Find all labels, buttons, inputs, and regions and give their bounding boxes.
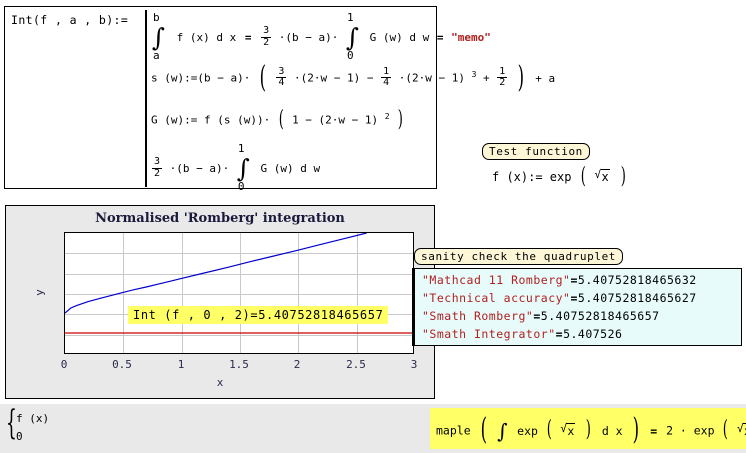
test-function-equation[interactable]: f (x):= exp ( x ) [492, 169, 628, 184]
maple-rhs-pre: 2 · exp [666, 424, 714, 438]
sanity-label: "Smath Romberg" [422, 309, 533, 323]
legend-entry-2: 0 [16, 430, 23, 443]
memo-string: "memo" [451, 31, 491, 44]
x-tick-label: 0.5 [102, 358, 142, 371]
x-axis-label: x [6, 376, 434, 389]
factor-b-minus-a-2: ·(b − a)· [170, 162, 230, 175]
definition-line-2[interactable]: s (w):=(b − a)· ( 3 4 ·(2·w − 1) − 1 4 ·… [151, 68, 555, 89]
integral2-lower-limit: 0 [347, 49, 354, 62]
integrand-3: G (w) d w [261, 162, 321, 175]
sqrt-icon: x [595, 169, 612, 184]
factor-b-minus-a-1: ·(b − a)· [279, 31, 339, 44]
plot-curves [65, 233, 413, 353]
maple-expression-panel[interactable]: maple ( ∫ exp ( x ) d x ) = 2 · exp ( x … [430, 408, 746, 449]
fraction-one-half: 1 2 [497, 67, 507, 88]
maple-function-name: maple [436, 424, 471, 438]
fraction-denominator: 4 [276, 77, 286, 88]
x-tick-label: 2 [277, 358, 317, 371]
equals-2: = [437, 31, 444, 44]
fraction-three-halves-2: 3 2 [152, 157, 162, 178]
definition-name-label: Int(f , a , b):= [11, 13, 128, 27]
sanity-equals: = [556, 327, 563, 341]
plot-area[interactable] [64, 232, 414, 354]
maple-integrand-pre: exp [517, 424, 538, 438]
sqrt-icon: x [737, 423, 746, 438]
integral-lower-limit: a [153, 49, 160, 62]
plus-sign: + [483, 72, 496, 85]
maple-expression: maple ( ∫ exp ( x ) d x ) = 2 · exp ( x … [436, 418, 746, 444]
sqrt-radicand: x [566, 423, 575, 438]
x-tick-label: 1 [161, 358, 201, 371]
legend-entry-1: f (x) [16, 412, 49, 425]
sanity-value: 5.40752818465657 [541, 309, 660, 323]
fraction-denominator: 2 [497, 77, 507, 88]
fraction-denominator: 2 [261, 37, 271, 48]
tail-plus-a: + a [535, 72, 555, 85]
sanity-row[interactable]: "Mathcad 11 Romberg"=5.40752818465632 [422, 273, 697, 287]
sanity-value: 5.407526 [563, 327, 622, 341]
sanity-check-callout[interactable]: sanity check the quadruplet [414, 248, 623, 265]
integral-symbol-2: 1 ∫ 0 [345, 21, 358, 55]
fraction-numerator: 3 [261, 26, 271, 36]
integral-symbol-1: b ∫ a [151, 21, 164, 55]
test-function-callout[interactable]: Test function [482, 143, 590, 160]
chart-panel[interactable]: Normalised 'Romberg' integration 5 4 3 2… [5, 205, 435, 399]
definition-line-4[interactable]: 3 2 ·(b − a)· 1 ∫ 0 G (w) d w [151, 152, 320, 186]
sanity-check-panel[interactable]: "Mathcad 11 Romberg"=5.40752818465632 "T… [412, 268, 742, 346]
sanity-row[interactable]: "Smath Integrator"=5.407526 [422, 327, 622, 341]
sanity-value: 5.40752818465632 [578, 273, 697, 287]
integral-result-annotation[interactable]: Int (f , 0 , 2)=5.40752818465657 [128, 306, 388, 324]
fraction-denominator: 2 [152, 168, 162, 179]
sanity-equals: = [570, 291, 577, 305]
sanity-equals: = [570, 273, 577, 287]
sanity-label: "Smath Integrator" [422, 327, 556, 341]
fraction-three-halves-1: 3 2 [261, 26, 271, 47]
fraction-numerator: 1 [381, 67, 391, 77]
x-tick-label: 0 [44, 358, 84, 371]
s-of-w-lhs: s (w):=(b − a)· [151, 72, 250, 85]
curve-f-of-x [65, 233, 367, 313]
integrand-1: f (x) d x [177, 31, 237, 44]
fraction-denominator: 4 [381, 77, 391, 88]
sqrt-icon: x [560, 423, 577, 438]
maple-equals: = [650, 424, 657, 438]
sanity-equals: = [533, 309, 540, 323]
sanity-row[interactable]: "Technical accuracy"=5.40752818465627 [422, 291, 697, 305]
integral-symbol-maple: ∫ [496, 418, 507, 444]
integral-lower-limit: 0 [238, 180, 245, 193]
x-tick-label: 1.5 [219, 358, 259, 371]
x-tick-label: 3 [394, 358, 434, 371]
sanity-label: "Technical accuracy" [422, 291, 570, 305]
definition-vertical-rule [145, 10, 147, 187]
definition-line-3[interactable]: G (w):= f (s (w))· ( 1 − (2·w − 1) 2 ) [151, 112, 405, 127]
sanity-value: 5.40752818465627 [578, 291, 697, 305]
x-tick-label: 2.5 [336, 358, 376, 371]
fraction-one-quarter: 1 4 [381, 67, 391, 88]
exponent-3: 3 [472, 70, 477, 79]
definition-panel[interactable]: Int(f , a , b):= b ∫ a f (x) d x = 3 2 ·… [4, 6, 437, 189]
equals-1: = [245, 31, 252, 44]
fraction-numerator: 1 [497, 67, 507, 77]
exponent-2: 2 [385, 112, 390, 121]
fraction-numerator: 3 [152, 157, 162, 167]
y-axis-label: y [33, 289, 46, 296]
term-1-rest: ·(2·w − 1) − [294, 72, 380, 85]
g-of-w-lhs: G (w):= f (s (w))· [151, 114, 270, 127]
maple-integrand-post: d x [602, 424, 623, 438]
definition-line-1[interactable]: b ∫ a f (x) d x = 3 2 ·(b − a)· 1 ∫ 0 G … [151, 21, 491, 55]
test-function-lhs: f (x):= exp [492, 170, 571, 184]
g-inner-expression: 1 − (2·w − 1) [292, 114, 378, 127]
fraction-three-quarters: 3 4 [276, 67, 286, 88]
sanity-row[interactable]: "Smath Romberg"=5.40752818465657 [422, 309, 660, 323]
integrand-2: G (w) d w [370, 31, 430, 44]
chart-title: Normalised 'Romberg' integration [6, 211, 434, 226]
fraction-numerator: 3 [276, 67, 286, 77]
term-2-rest: ·(2·w − 1) [399, 72, 465, 85]
chart-legend[interactable]: { f (x) 0 [6, 409, 96, 451]
integral-symbol-3: 1 ∫ 0 [236, 152, 249, 186]
sqrt-radicand: x [601, 169, 610, 184]
sanity-label: "Mathcad 11 Romberg" [422, 273, 570, 287]
